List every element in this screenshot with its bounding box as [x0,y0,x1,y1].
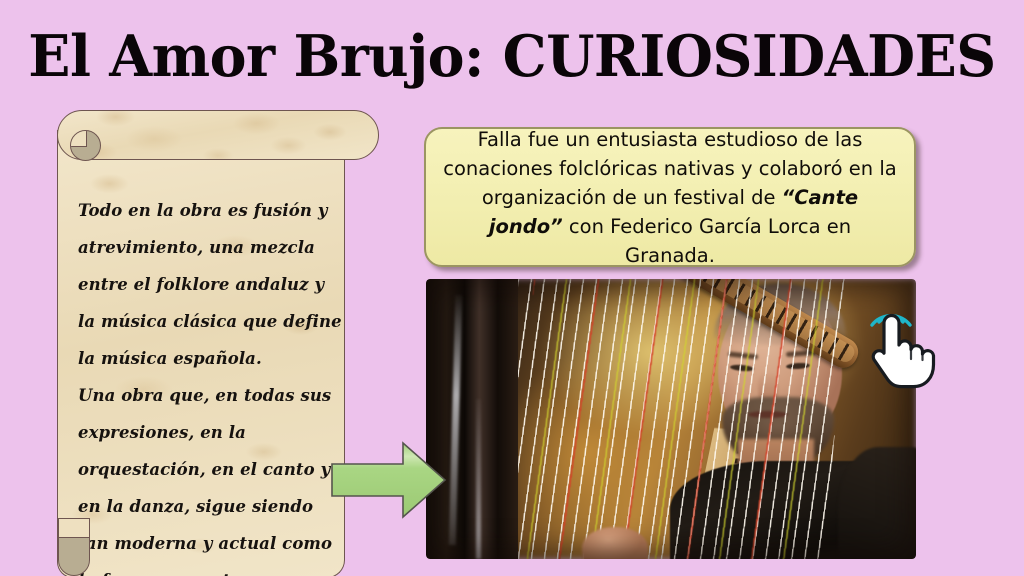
scroll-curl-top-icon [70,130,101,161]
harpist-photo [426,279,916,559]
scroll-paragraph-1: Todo en la obra es fusión y atrevimiento… [78,192,344,377]
callout-text: Falla fue un entusiasta estudioso de las… [426,125,914,270]
green-right-arrow [331,441,447,519]
scroll-curl-bottom-icon [58,518,90,576]
scroll-body: Todo en la obra es fusión y atrevimiento… [57,130,345,576]
callout-text-part2: con Federico García Lorca en Granada. [563,215,851,267]
harp-pillar-highlight-2 [476,399,481,559]
harpist-hand [582,527,648,559]
harpist-photo-image [426,279,916,559]
yellow-fact-box: Falla fue un entusiasta estudioso de las… [424,127,916,267]
tap-hand-icon[interactable] [859,294,937,390]
page-title: El Amor Brujo: CURIOSIDADES [15,26,1008,88]
scroll-text-block: Todo en la obra es fusión y atrevimiento… [78,192,344,576]
harpist-shoulder [838,447,916,559]
scroll-paragraph-2: Una obra que, en todas sus expresiones, … [78,377,344,576]
scroll-top-roll [57,110,379,160]
slide-canvas: El Amor Brujo: CURIOSIDADES Todo en la o… [0,0,1024,576]
harp-strings-colored [509,279,835,559]
